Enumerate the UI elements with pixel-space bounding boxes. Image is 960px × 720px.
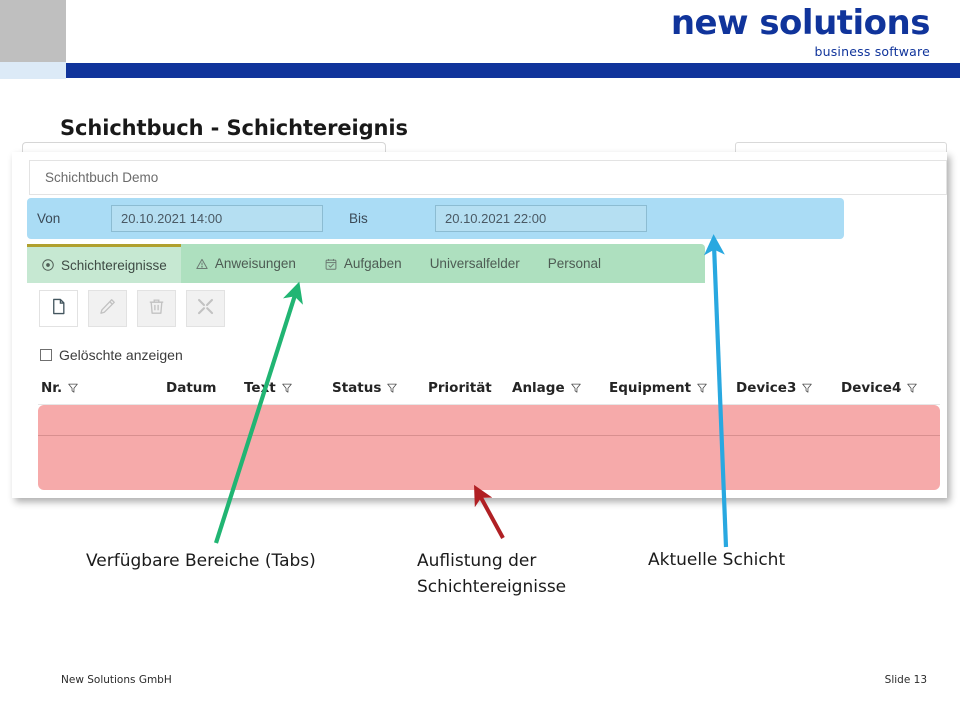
column-header-text[interactable]: Text xyxy=(244,380,293,396)
document-icon xyxy=(49,297,68,321)
filter-icon[interactable] xyxy=(801,382,813,394)
table-header-row: Nr.DatumTextStatusPrioritätAnlageEquipme… xyxy=(38,372,940,405)
footer-company: New Solutions GmbH xyxy=(61,674,172,686)
column-header-anlage[interactable]: Anlage xyxy=(512,380,582,396)
pencil-icon xyxy=(98,297,117,321)
tab-label: Personal xyxy=(548,256,601,271)
company-logo: new solutions business software xyxy=(671,6,930,59)
column-header-label: Status xyxy=(332,380,381,396)
footer-slide-number: Slide 13 xyxy=(885,674,927,686)
row-divider xyxy=(38,435,940,436)
column-header-datum[interactable]: Datum xyxy=(166,380,216,396)
annotation-listing-line1: Auflistung der xyxy=(417,549,627,575)
column-header-priorität[interactable]: Priorität xyxy=(428,380,492,396)
column-header-label: Anlage xyxy=(512,380,565,396)
filter-icon[interactable] xyxy=(281,382,293,394)
tab-aufgaben[interactable]: Aufgaben xyxy=(310,244,416,283)
warning-triangle-icon xyxy=(195,257,209,271)
tab-bar: SchichtereignisseAnweisungenAufgabenUniv… xyxy=(27,244,705,283)
table-rows-highlight[interactable] xyxy=(38,405,940,490)
header-gray-block xyxy=(0,0,66,62)
annotation-listing: Auflistung der Schichtereignisse xyxy=(417,549,627,600)
tab-universalfelder[interactable]: Universalfelder xyxy=(416,244,534,283)
column-header-label: Equipment xyxy=(609,380,691,396)
delete-button[interactable] xyxy=(137,290,176,327)
filter-icon[interactable] xyxy=(67,382,79,394)
tools-button[interactable] xyxy=(186,290,225,327)
show-deleted-row[interactable]: Gelöschte anzeigen xyxy=(40,347,183,363)
show-deleted-checkbox[interactable] xyxy=(40,349,52,361)
filter-icon[interactable] xyxy=(696,382,708,394)
filter-icon[interactable] xyxy=(570,382,582,394)
toolbar xyxy=(39,290,225,327)
column-header-device4[interactable]: Device4 xyxy=(841,380,918,396)
from-label: Von xyxy=(27,211,111,226)
column-header-label: Datum xyxy=(166,380,216,396)
logo-sub-text: business software xyxy=(671,46,930,59)
header-blue-bar xyxy=(66,63,960,78)
page-title: Schichtbuch - Schichtereignis xyxy=(60,116,408,140)
red-arrow xyxy=(479,494,503,538)
logo-main-text: new solutions xyxy=(671,6,930,40)
show-deleted-label: Gelöschte anzeigen xyxy=(59,347,183,363)
slide-canvas: new solutions business software Schichtb… xyxy=(0,0,960,720)
column-header-device3[interactable]: Device3 xyxy=(736,380,813,396)
target-circle-icon xyxy=(41,258,55,272)
shiftbook-demo-label: Schichtbuch Demo xyxy=(30,170,158,185)
tab-label: Universalfelder xyxy=(430,256,520,271)
tab-anweisungen[interactable]: Anweisungen xyxy=(181,244,310,283)
from-date-input[interactable]: 20.10.2021 14:00 xyxy=(111,205,323,232)
to-date-input[interactable]: 20.10.2021 22:00 xyxy=(435,205,647,232)
tools-icon xyxy=(196,297,215,321)
date-range-band: Von 20.10.2021 14:00 Bis 20.10.2021 22:0… xyxy=(27,198,844,239)
column-header-label: Device3 xyxy=(736,380,796,396)
header-lightblue-block xyxy=(0,62,66,79)
new-document-button[interactable] xyxy=(39,290,78,327)
tab-personal[interactable]: Personal xyxy=(534,244,615,283)
to-label: Bis xyxy=(323,211,435,226)
column-header-nr[interactable]: Nr. xyxy=(41,380,79,396)
app-window: Schichtbuch Demo Von 20.10.2021 14:00 Bi… xyxy=(12,152,947,498)
column-header-label: Device4 xyxy=(841,380,901,396)
column-header-label: Text xyxy=(244,380,276,396)
calendar-check-icon xyxy=(324,257,338,271)
annotation-tabs: Verfügbare Bereiche (Tabs) xyxy=(86,549,316,575)
tab-schichtereignisse[interactable]: Schichtereignisse xyxy=(27,244,181,283)
tab-label: Anweisungen xyxy=(215,256,296,271)
edit-button[interactable] xyxy=(88,290,127,327)
trash-icon xyxy=(147,297,166,321)
filter-icon[interactable] xyxy=(386,382,398,394)
filter-icon[interactable] xyxy=(906,382,918,394)
column-header-label: Priorität xyxy=(428,380,492,396)
column-header-status[interactable]: Status xyxy=(332,380,398,396)
tab-label: Schichtereignisse xyxy=(61,258,167,273)
annotation-listing-line2: Schichtereignisse xyxy=(417,575,627,601)
tab-label: Aufgaben xyxy=(344,256,402,271)
shiftbook-demo-field[interactable]: Schichtbuch Demo xyxy=(29,160,947,195)
column-header-label: Nr. xyxy=(41,380,62,396)
column-header-equipment[interactable]: Equipment xyxy=(609,380,708,396)
annotation-shift: Aktuelle Schicht xyxy=(648,548,785,574)
